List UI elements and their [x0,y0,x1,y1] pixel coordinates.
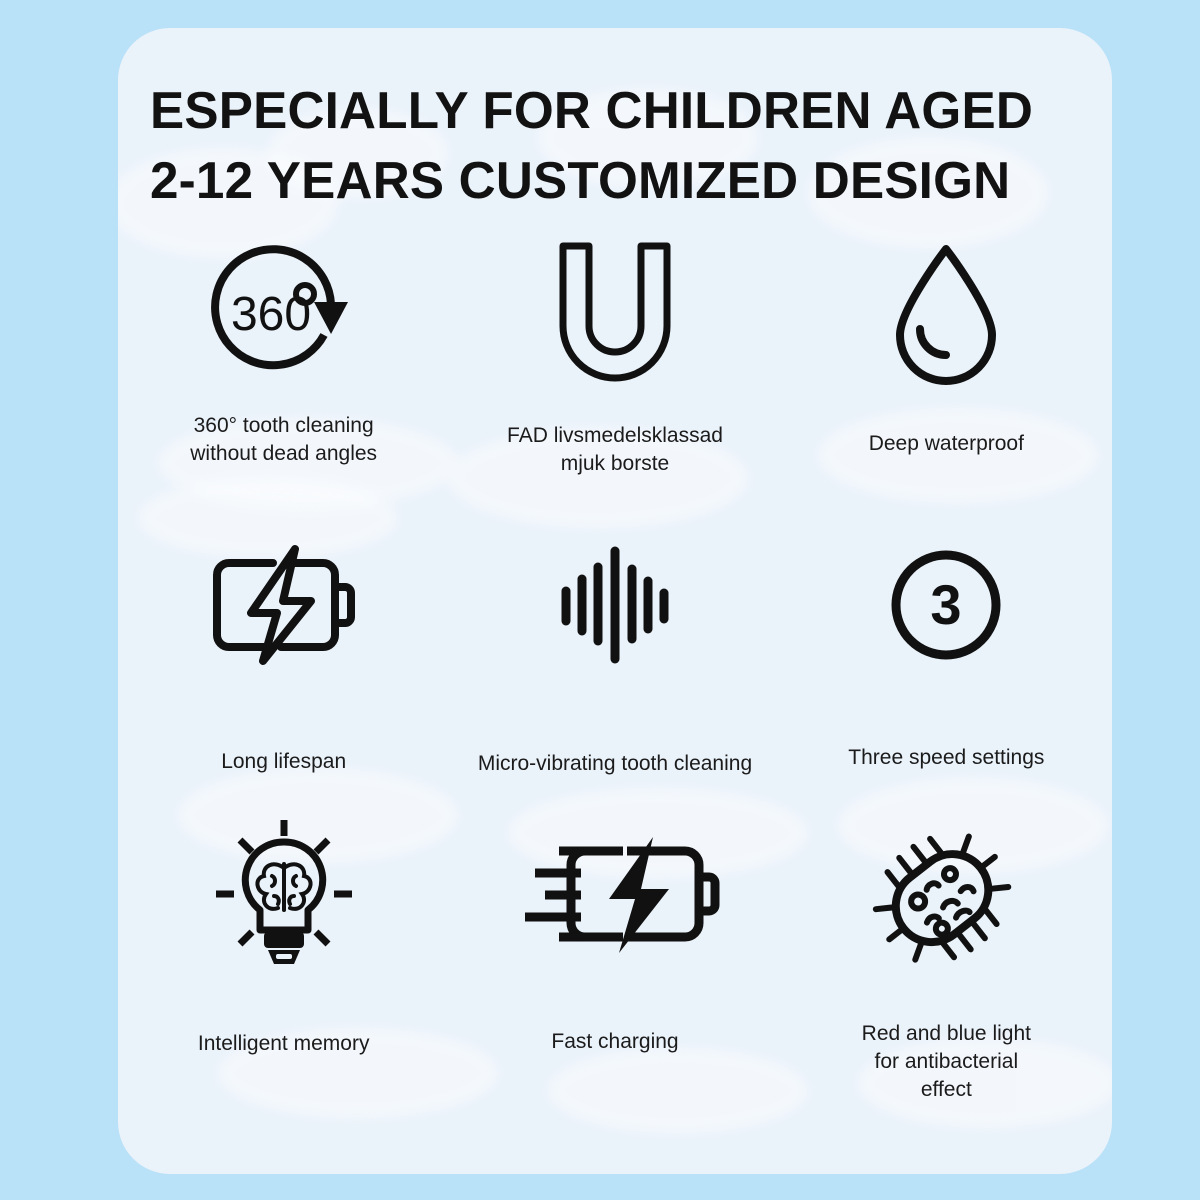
feature-label: Micro-vibrating tooth cleaning [478,750,752,778]
three-label: 3 [931,573,962,636]
fast-charging-battery-icon [507,820,723,970]
headline-line-2: 2-12 YEARS CUSTOMIZED DESIGN [150,146,1066,216]
feature-label: Fast charging [551,1028,678,1056]
feature-grid: 360 360° tooth cleaning without dead ang… [118,240,1112,1120]
water-drop-icon [884,240,1008,388]
u-shaped-brush-icon [549,240,681,388]
feature-label: FAD livsmedelsklassad mjuk borste [507,422,723,478]
feature-label: Long lifespan [221,748,346,776]
feature-item-three-speeds: 3 Three speed settings [781,530,1112,820]
lightbulb-brain-icon [210,820,358,970]
feature-item-long-lifespan: Long lifespan [118,530,449,820]
page-title: ESPECIALLY FOR CHILDREN AGED 2-12 YEARS … [150,76,1080,216]
bacteria-icon [876,820,1016,970]
headline-line-1: ESPECIALLY FOR CHILDREN AGED [150,76,1066,146]
battery-bolt-icon [211,530,357,680]
feature-label: Three speed settings [848,744,1044,772]
feature-item-360-cleaning: 360 360° tooth cleaning without dead ang… [118,240,449,530]
feature-item-u-brush: FAD livsmedelsklassad mjuk borste [449,240,780,530]
feature-label: 360° tooth cleaning without dead angles [190,412,377,468]
feature-label: Deep waterproof [869,430,1024,458]
feature-card: ESPECIALLY FOR CHILDREN AGED 2-12 YEARS … [118,28,1112,1174]
feature-item-intelligent-memory: Intelligent memory [118,820,449,1120]
feature-item-waterproof: Deep waterproof [781,240,1112,530]
feature-label: Intelligent memory [198,1030,370,1058]
feature-item-fast-charging: Fast charging [449,820,780,1120]
360-rotation-icon: 360 [209,240,359,390]
feature-label: Red and blue light for antibacterial eff… [862,1020,1031,1104]
feature-item-micro-vibration: Micro-vibrating tooth cleaning [449,530,780,820]
sound-wave-icon [560,530,670,680]
number-three-circle-icon: 3 [889,530,1003,680]
feature-item-antibacterial-light: Red and blue light for antibacterial eff… [781,820,1112,1120]
